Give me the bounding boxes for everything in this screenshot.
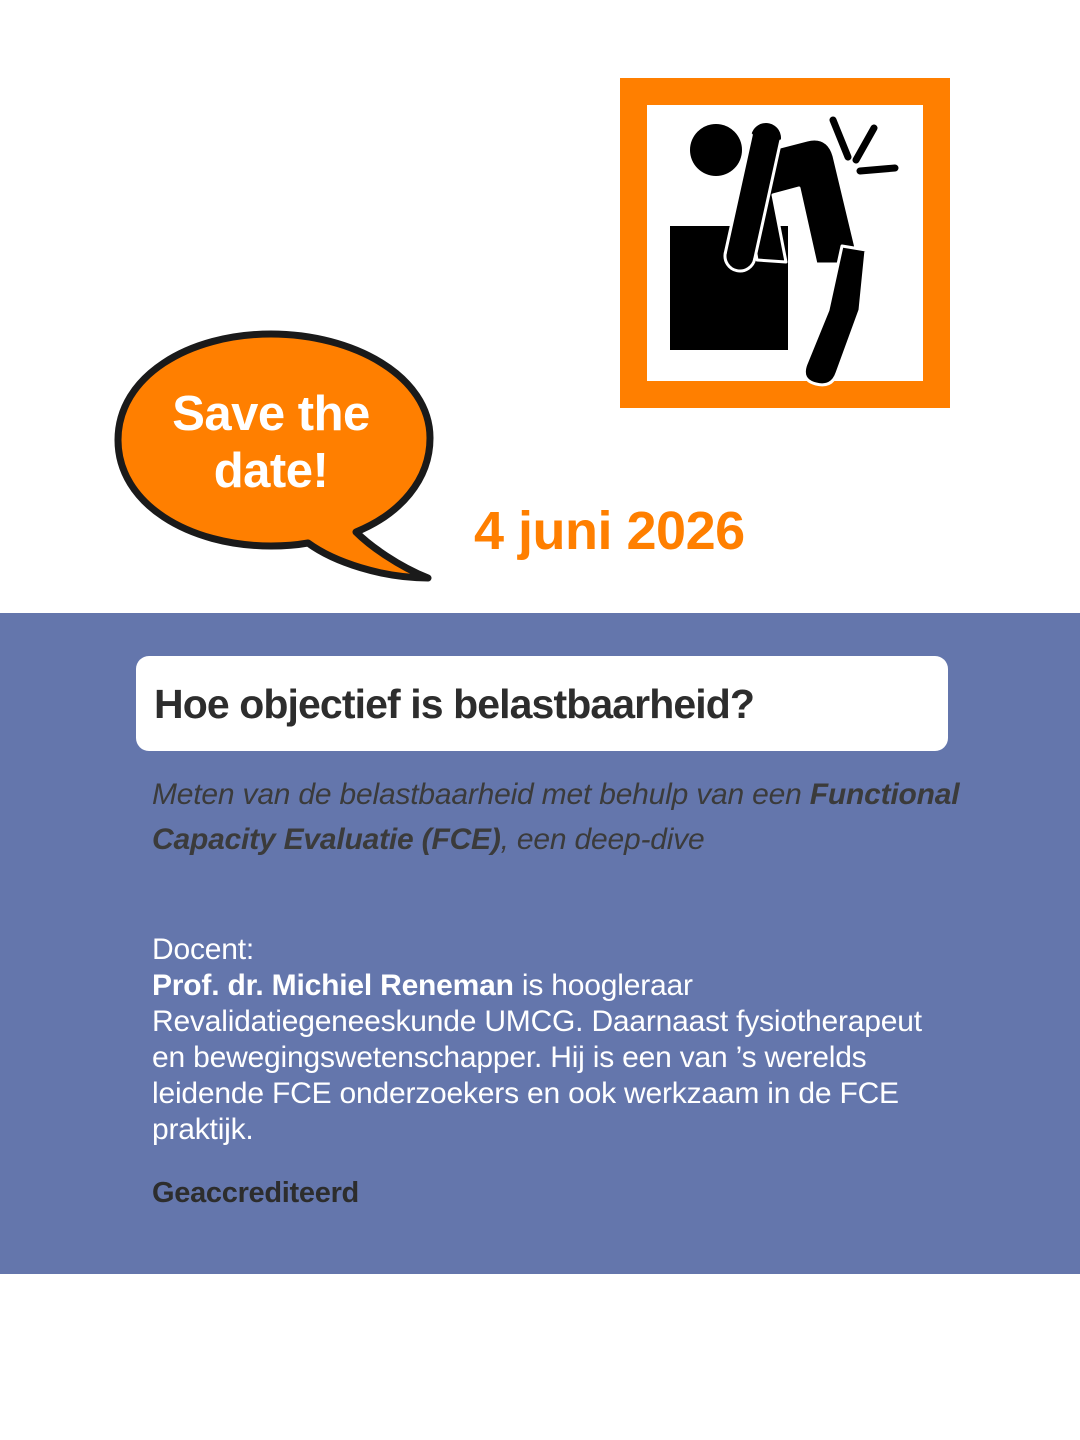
- subtitle-line-1: Meten van de belastbaarheid met behulp: [152, 778, 688, 811]
- page-title: Hoe objectief is belastbaarheid?: [154, 681, 754, 727]
- subtitle-line-2-prefix: van een: [696, 778, 810, 811]
- poster-canvas: Save the date! 4 juni 2026 Hoe objectief…: [0, 0, 1080, 1440]
- accreditation-badge: Geaccrediteerd: [152, 1176, 359, 1210]
- speaker-name: Prof. dr. Michiel Reneman: [152, 969, 514, 1002]
- figure-head-shape: [690, 124, 742, 176]
- event-date: 4 juni 2026: [474, 500, 745, 562]
- speech-bubble-label: Save the date!: [112, 386, 430, 500]
- title-card: Hoe objectief is belastbaarheid?: [136, 656, 948, 751]
- subtitle-block: Meten van de belastbaarheid met behulp v…: [152, 772, 962, 862]
- manual-lifting-back-injury-pictogram: [620, 78, 950, 408]
- subtitle-line-3: een deep-dive: [517, 823, 705, 856]
- speaker-description: Docent: Prof. dr. Michiel Reneman is hoo…: [152, 932, 962, 1148]
- save-the-date-speech-bubble: Save the date!: [112, 330, 452, 585]
- docent-label: Docent:: [152, 932, 962, 968]
- subtitle-line-2-suffix: ,: [501, 823, 509, 856]
